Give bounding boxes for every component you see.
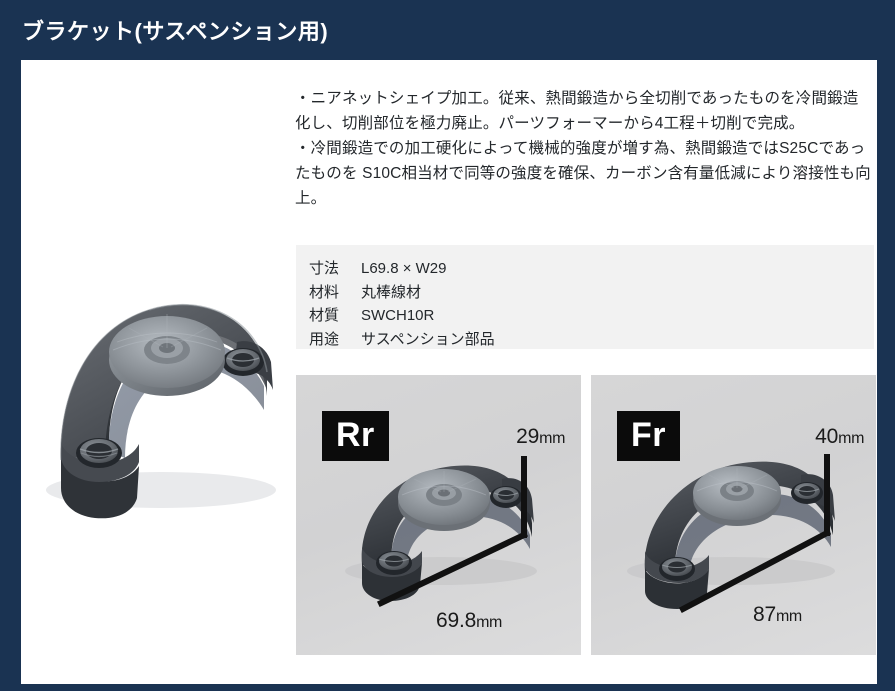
description-paragraph-1: ・ニアネットシェイプ加工。従来、熱間鍛造から全切削であったものを冷間鍛造化し、切… [295,86,873,136]
spec-value-grade: SWCH10R [361,304,874,328]
dimension-unit-vertical-rr: mm [539,430,565,447]
content-panel: ・ニアネットシェイプ加工。従来、熱間鍛造から全切削であったものを冷間鍛造化し、切… [21,60,877,684]
dimension-value-vertical-fr: 40 [815,425,838,448]
card-tag-rr: Rr [322,411,389,461]
page-title: ブラケット(サスペンション用) [22,14,328,46]
photo-card-fr[interactable]: Fr 40mm 87mm [591,375,876,655]
hero-product-photo [21,60,295,620]
dimension-label-vertical-fr: 40mm [815,425,864,449]
dimension-label-horizontal-fr: 87mm [753,603,802,627]
spec-row: 材料 丸棒線材 [309,281,874,305]
dimension-value-vertical-rr: 29 [516,425,539,448]
spec-value-dimensions: L69.8 × W29 [361,257,874,281]
spec-label-dimensions: 寸法 [309,257,361,281]
product-page: ブラケット(サスペンション用) [0,0,895,691]
spec-row: 用途 サスペンション部品 [309,328,874,352]
spec-label-material: 材料 [309,281,361,305]
dimension-photo-cards: Rr 29mm 69.8mm [296,375,876,655]
spec-value-material: 丸棒線材 [361,281,874,305]
dimension-value-horizontal-fr: 87 [753,603,776,626]
dimension-unit-vertical-fr: mm [838,430,864,447]
spec-row: 寸法 L69.8 × W29 [309,257,874,281]
dimension-value-horizontal-rr: 69.8 [436,609,476,632]
spec-label-application: 用途 [309,328,361,352]
right-column: ・ニアネットシェイプ加工。従来、熱間鍛造から全切削であったものを冷間鍛造化し、切… [295,60,877,684]
description-block: ・ニアネットシェイプ加工。従来、熱間鍛造から全切削であったものを冷間鍛造化し、切… [295,86,873,212]
description-paragraph-2: ・冷間鍛造での加工硬化によって機械的強度が増す為、熱間鍛造ではS25Cであったも… [295,136,873,211]
dimension-unit-horizontal-fr: mm [776,608,802,625]
card-tag-fr: Fr [617,411,680,461]
dimension-unit-horizontal-rr: mm [476,614,502,631]
hero-bracket-illustration [21,60,295,620]
page-header: ブラケット(サスペンション用) [0,0,895,60]
spec-table: 寸法 L69.8 × W29 材料 丸棒線材 材質 SWCH10R 用途 サスペ… [296,245,874,349]
photo-card-rr[interactable]: Rr 29mm 69.8mm [296,375,581,655]
dimension-label-horizontal-rr: 69.8mm [436,609,502,633]
spec-row: 材質 SWCH10R [309,304,874,328]
dimension-label-vertical-rr: 29mm [516,425,565,449]
spec-value-application: サスペンション部品 [361,328,874,352]
spec-label-grade: 材質 [309,304,361,328]
